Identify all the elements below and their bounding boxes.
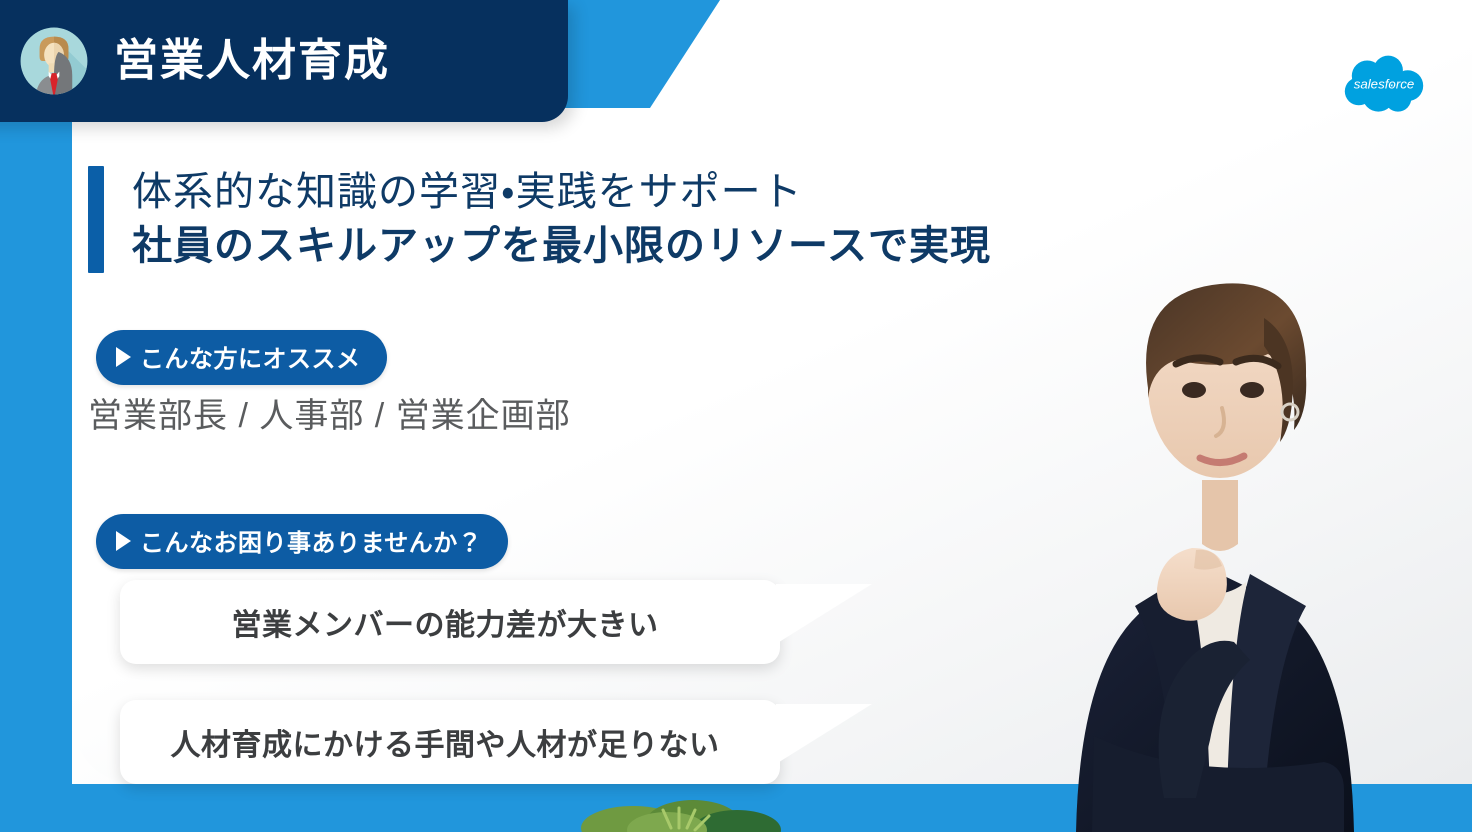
recommend-pill: こんな方にオススメ xyxy=(96,330,387,385)
slide-canvas: 営業人材育成 salesforce xyxy=(0,0,1472,832)
troubles-pill-label: こんなお困り事ありませんか？ xyxy=(140,523,482,558)
page-title: 営業人材育成 xyxy=(114,39,390,83)
header-tab: 営業人材育成 xyxy=(0,0,568,122)
recommend-pill-label: こんな方にオススメ xyxy=(140,339,361,374)
trouble-bubble: 人材育成にかける手間や人材が足りない xyxy=(120,700,780,784)
play-triangle-icon xyxy=(116,347,131,367)
trouble-bubble: 営業メンバーの能力差が大きい xyxy=(120,580,780,664)
svg-text:salesforce: salesforce xyxy=(1354,77,1415,92)
headline-accent-bar xyxy=(88,166,104,273)
headline-block: 体系的な知識の学習・実践をサポート 社員のスキルアップを最小限のリソースで実現 xyxy=(88,166,991,273)
play-triangle-icon xyxy=(116,531,131,551)
trouble-bubble-text: 営業メンバーの能力差が大きい xyxy=(232,600,659,644)
trouble-bubble-text: 人材育成にかける手間や人材が足りない xyxy=(171,720,720,764)
headline-line-2: 社員のスキルアップを最小限のリソースで実現 xyxy=(132,220,991,274)
left-blue-frame xyxy=(0,0,72,832)
salesforce-cloud-logo: salesforce xyxy=(1342,54,1426,116)
target-audience-text: 営業部長 / 人事部 / 営業企画部 xyxy=(88,388,571,437)
businessman-avatar-icon xyxy=(16,23,92,99)
headline-line-1: 体系的な知識の学習・実践をサポート xyxy=(132,166,991,220)
troubles-pill: こんなお困り事ありませんか？ xyxy=(96,514,508,569)
